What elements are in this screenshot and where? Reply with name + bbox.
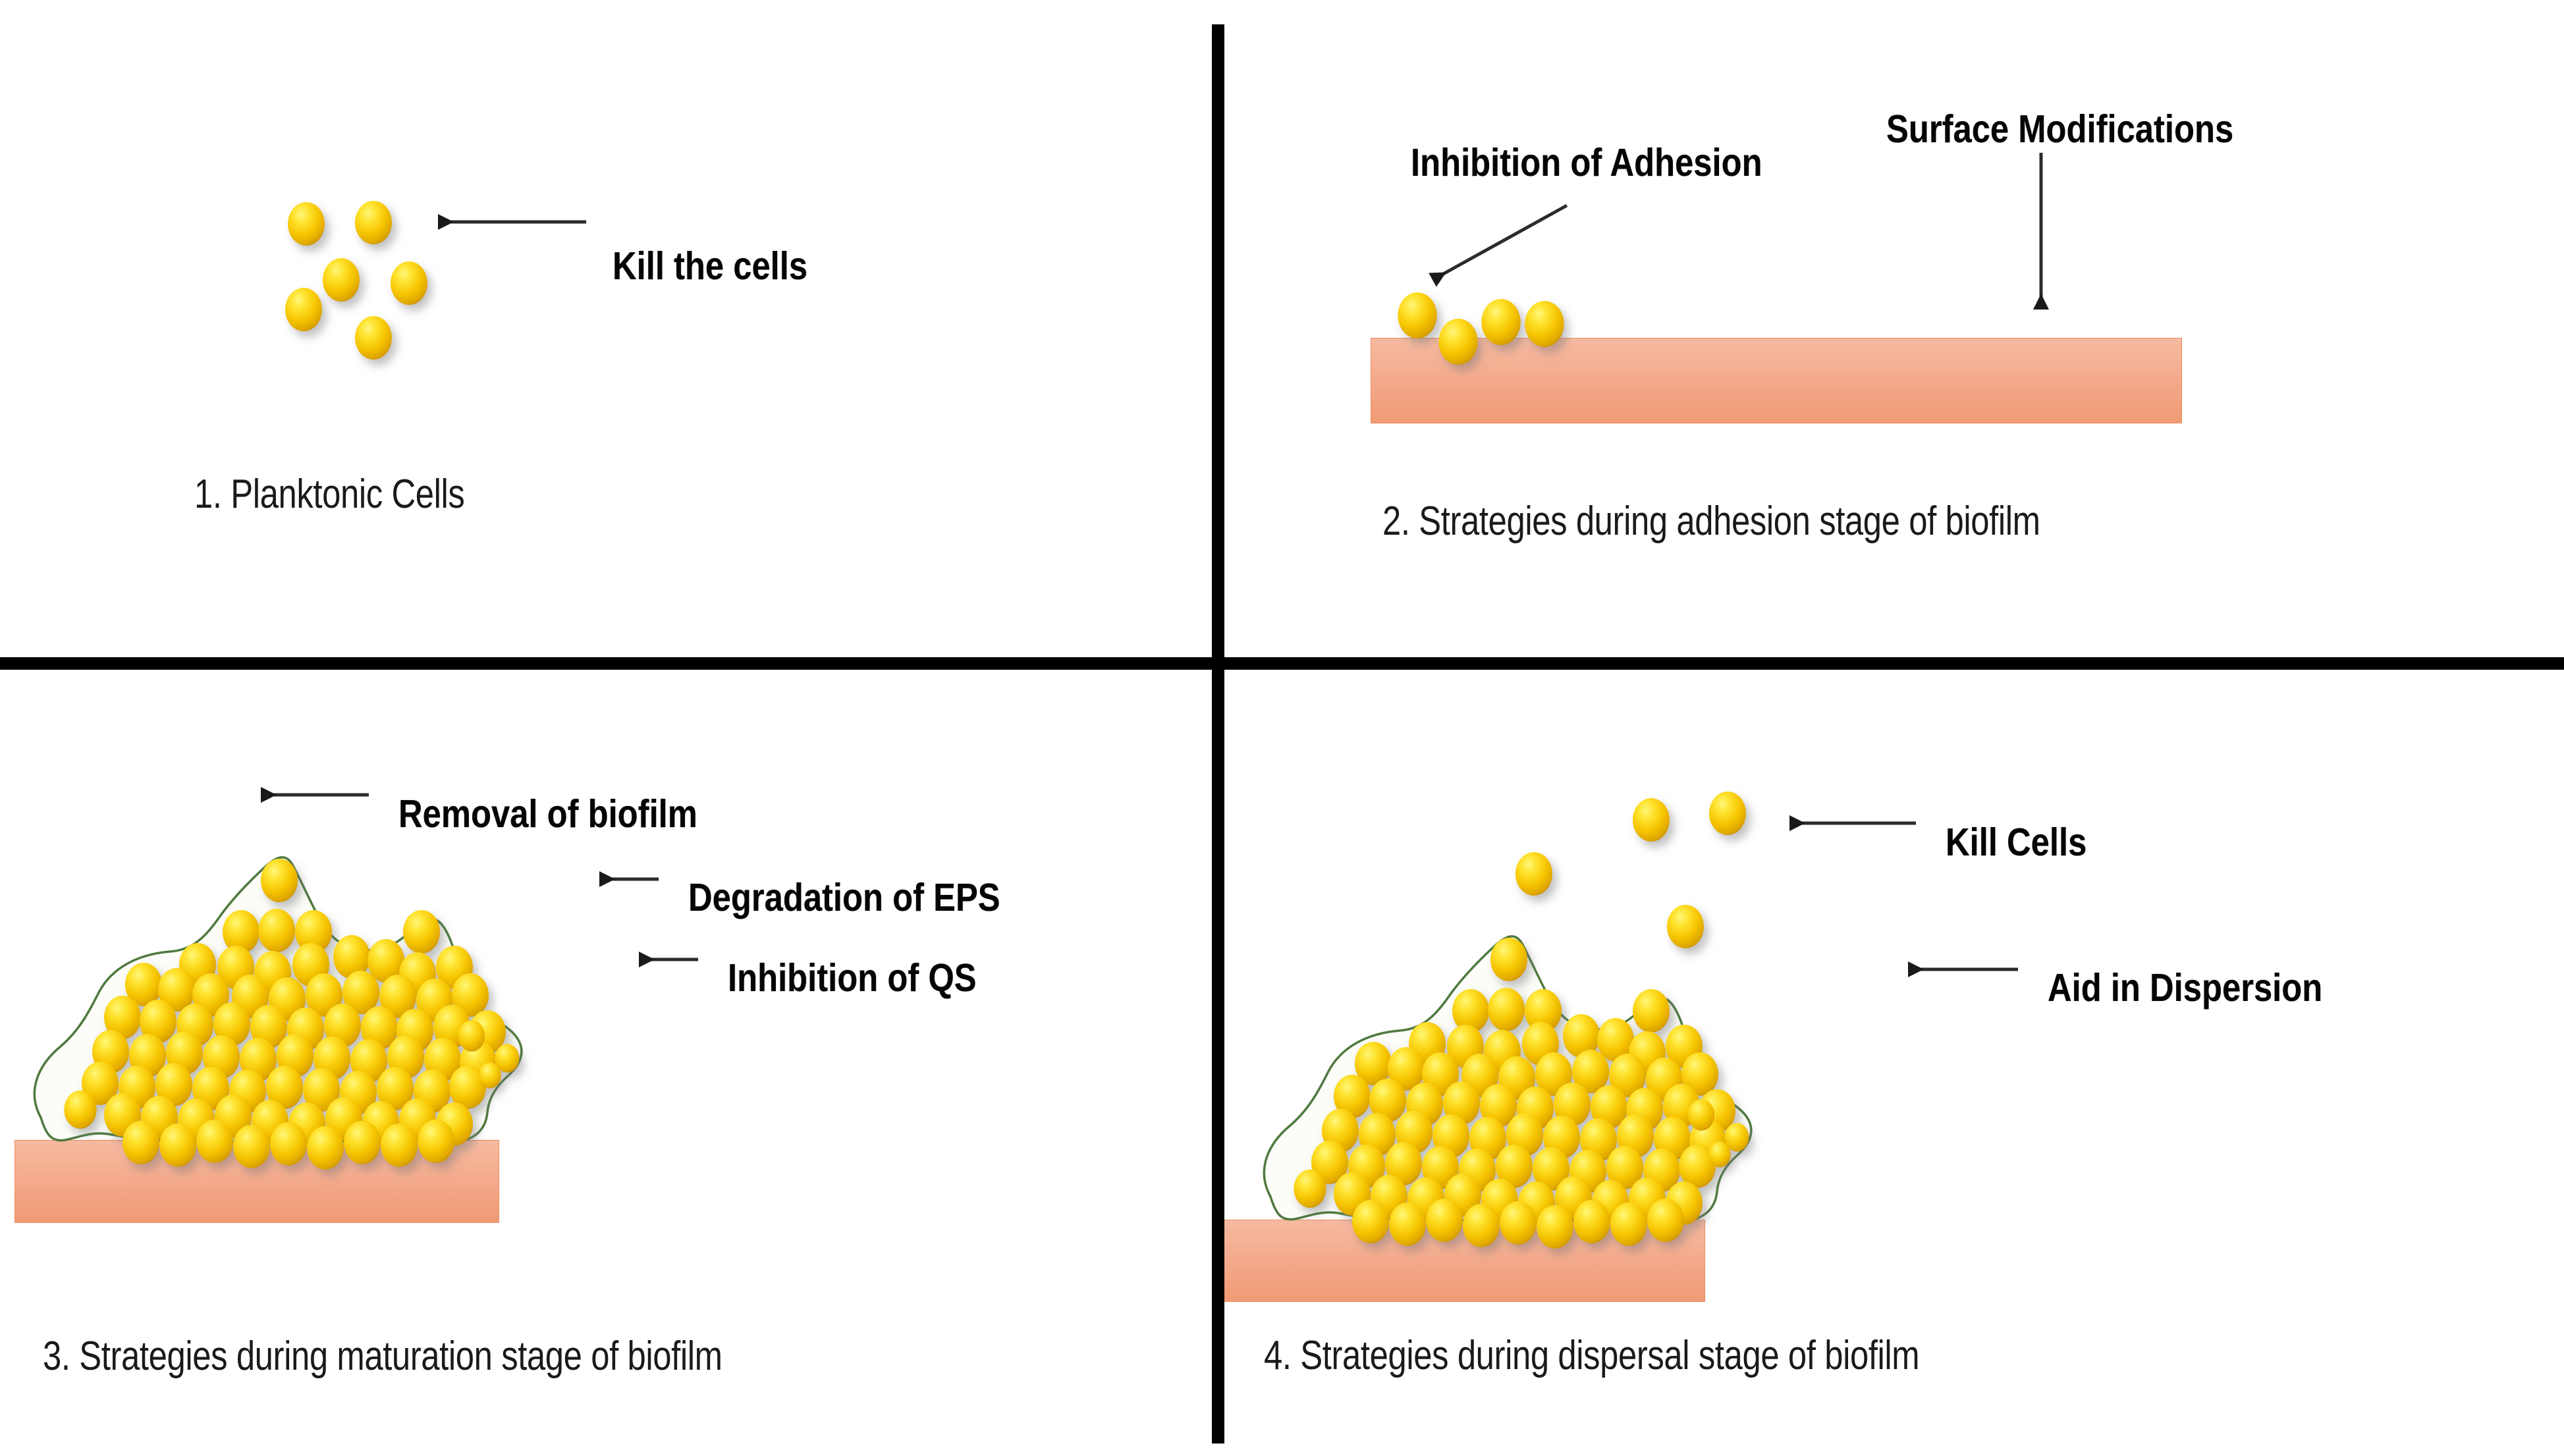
label-kill-cells: Kill Cells xyxy=(1946,820,2087,865)
bacterial-cell-icon xyxy=(288,202,325,246)
panel2-graphics xyxy=(1224,0,2564,657)
label-kill-the-cells: Kill the cells xyxy=(613,244,807,288)
panel-maturation-stage: Removal of biofilm Degradation of EPS In… xyxy=(0,670,1212,1456)
biofilm-eps-matrix-icon xyxy=(34,857,522,1141)
vertical-divider xyxy=(1212,24,1224,1443)
label-removal-of-biofilm: Removal of biofilm xyxy=(398,792,697,836)
bacterial-cell-icon xyxy=(355,316,392,360)
bacterial-cell-icon xyxy=(285,288,322,331)
bacterial-cell-icon xyxy=(1709,792,1746,835)
bacterial-cell-icon xyxy=(355,201,392,244)
figure-canvas: Kill the cells 1. Planktonic Cells Inhib… xyxy=(0,0,2564,1456)
caption-panel-2: 2. Strategies during adhesion stage of b… xyxy=(1382,498,2040,545)
bacterial-cell-icon xyxy=(1667,905,1704,948)
biofilm-eps-matrix-icon xyxy=(1264,936,1751,1220)
surface-substrate-icon xyxy=(1371,338,2182,423)
panel-adhesion-stage: Inhibition of Adhesion Surface Modificat… xyxy=(1224,0,2564,657)
planktonic-cell-cluster xyxy=(285,201,427,360)
label-inhibition-of-adhesion: Inhibition of Adhesion xyxy=(1411,140,1762,185)
label-aid-in-dispersion: Aid in Dispersion xyxy=(2048,965,2322,1010)
surface-substrate-icon xyxy=(14,1140,499,1223)
bacterial-cell-icon xyxy=(1633,798,1670,842)
caption-panel-1: 1. Planktonic Cells xyxy=(194,471,464,518)
bacterial-cell-icon xyxy=(1398,292,1436,338)
biofilm-cell-population xyxy=(64,859,519,1170)
surface-substrate-icon xyxy=(1214,1220,1705,1302)
arrow-diagonal-icon xyxy=(1432,205,1567,280)
bacterial-cell-icon xyxy=(391,261,427,305)
bacterial-cell-icon xyxy=(323,258,360,302)
label-inhibition-of-qs: Inhibition of QS xyxy=(728,956,977,1000)
caption-panel-4: 4. Strategies during dispersal stage of … xyxy=(1264,1332,1919,1379)
panel-dispersal-stage: Kill Cells Aid in Dispersion 4. Strategi… xyxy=(1224,670,2564,1456)
dispersed-cell-group xyxy=(1515,792,1746,948)
caption-panel-3: 3. Strategies during maturation stage of… xyxy=(43,1333,723,1380)
bacterial-cell-icon xyxy=(1515,852,1552,896)
label-surface-modifications: Surface Modifications xyxy=(1886,107,2233,151)
horizontal-divider xyxy=(0,657,2564,670)
biofilm-cell-population xyxy=(1294,938,1749,1249)
label-degradation-of-eps: Degradation of EPS xyxy=(688,875,1000,920)
panel-planktonic-cells: Kill the cells 1. Planktonic Cells xyxy=(0,0,1212,657)
panel1-graphics xyxy=(0,0,1212,657)
